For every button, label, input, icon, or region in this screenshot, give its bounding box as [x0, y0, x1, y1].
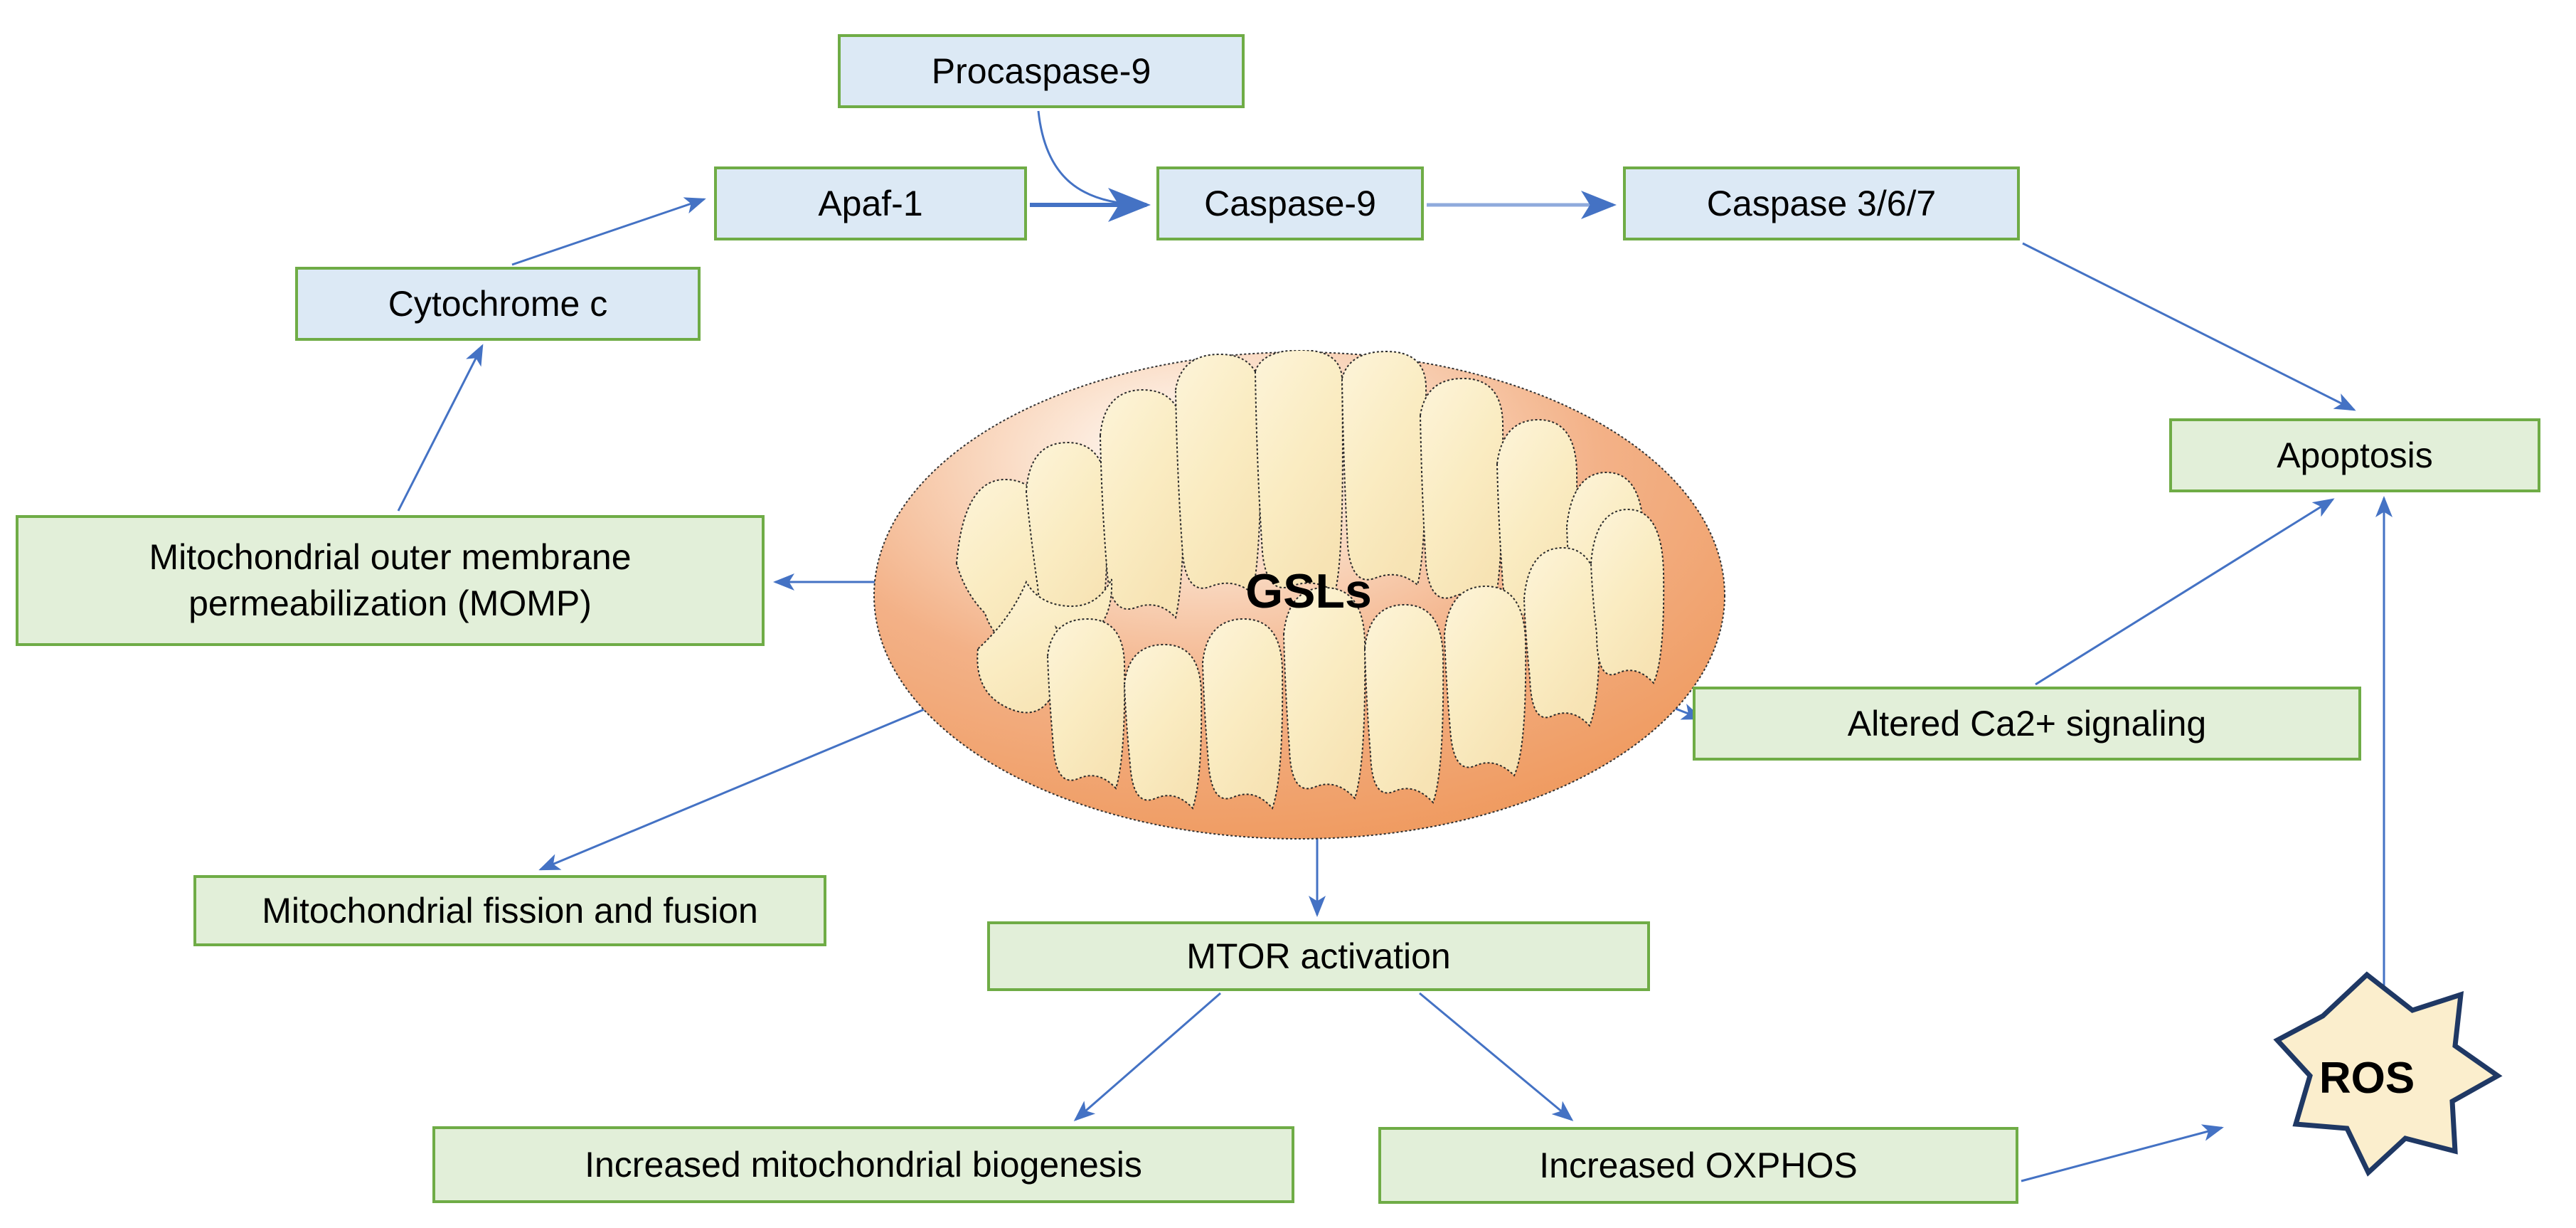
node-ros[interactable]: ROS — [2253, 1046, 2481, 1110]
node-caspase-9-label: Caspase-9 — [1204, 181, 1376, 227]
node-altered-ca2-signaling-label: Altered Ca2+ signaling — [1848, 701, 2207, 747]
node-ros-label: ROS — [2319, 1053, 2415, 1103]
node-momp-label: Mitochondrial outer membrane permeabiliz… — [26, 534, 755, 627]
node-cytochrome-c[interactable]: Cytochrome c — [295, 267, 701, 341]
edge-procaspase9-caspase9 — [1038, 111, 1144, 205]
node-apoptosis[interactable]: Apoptosis — [2169, 418, 2540, 492]
edge-mtor-oxphos — [1420, 993, 1572, 1120]
node-mitochondrial-fission-and-fusion-label: Mitochondrial fission and fusion — [262, 888, 758, 934]
node-apoptosis-label: Apoptosis — [2277, 433, 2433, 479]
edge-oxphos-ros — [2021, 1128, 2222, 1181]
node-procaspase-9-label: Procaspase-9 — [932, 48, 1151, 95]
node-caspase-9[interactable]: Caspase-9 — [1156, 166, 1424, 240]
node-apaf-1-label: Apaf-1 — [818, 181, 922, 227]
edge-momp-cytochromec — [398, 346, 482, 511]
node-caspase-3-6-7[interactable]: Caspase 3/6/7 — [1623, 166, 2020, 240]
node-increased-mitochondrial-biogenesis[interactable]: Increased mitochondrial biogenesis — [432, 1126, 1294, 1203]
node-increased-mitochondrial-biogenesis-label: Increased mitochondrial biogenesis — [585, 1142, 1142, 1188]
node-procaspase-9[interactable]: Procaspase-9 — [838, 34, 1245, 108]
node-mtor-activation[interactable]: MTOR activation — [987, 921, 1650, 991]
node-caspase-3-6-7-label: Caspase 3/6/7 — [1707, 181, 1936, 227]
node-cytochrome-c-label: Cytochrome c — [388, 281, 607, 327]
node-increased-oxphos[interactable]: Increased OXPHOS — [1378, 1127, 2018, 1204]
pathway-diagram: GSLs Procaspase-9 Apaf-1 Caspase-9 Caspa… — [0, 0, 2576, 1228]
edge-mtor-biogenesis — [1075, 993, 1220, 1120]
node-mitochondrial-fission-and-fusion[interactable]: Mitochondrial fission and fusion — [193, 875, 826, 946]
node-increased-oxphos-label: Increased OXPHOS — [1539, 1143, 1857, 1189]
edge-caspase367-apoptosis — [2023, 243, 2354, 410]
mitochondrion-illustration — [871, 350, 1728, 841]
node-momp[interactable]: Mitochondrial outer membrane permeabiliz… — [16, 515, 765, 646]
node-mtor-activation-label: MTOR activation — [1186, 933, 1450, 980]
node-apaf-1[interactable]: Apaf-1 — [714, 166, 1027, 240]
node-altered-ca2-signaling[interactable]: Altered Ca2+ signaling — [1693, 687, 2361, 761]
edge-cytochromec-apaf1 — [512, 199, 704, 265]
edge-calcium-apoptosis — [2035, 499, 2333, 684]
